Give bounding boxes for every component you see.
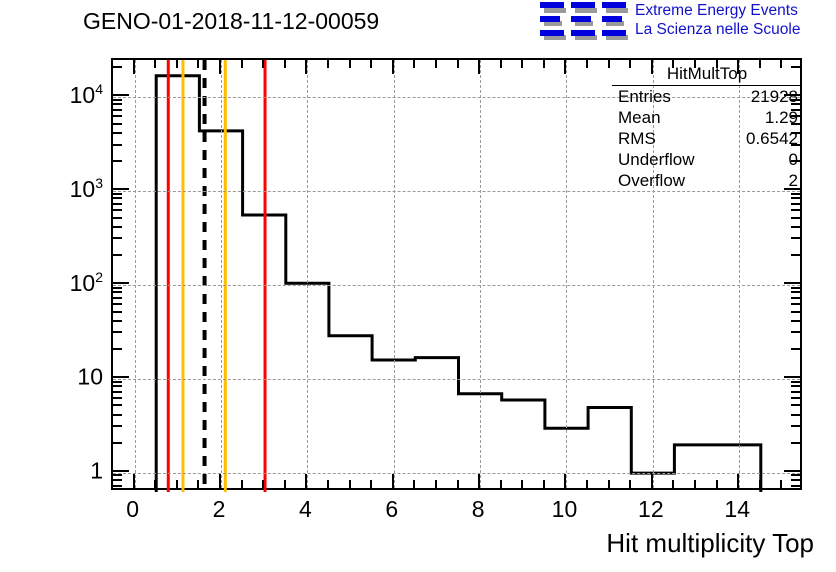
eee-logo: Extreme Energy Events La Scienza nelle S… — [540, 1, 832, 41]
x-axis-tick-top — [327, 60, 329, 68]
y-axis-tick — [113, 109, 122, 111]
stats-value: 21928 — [751, 86, 798, 107]
y-axis-tick-right — [791, 474, 800, 476]
x-axis-tick — [241, 480, 243, 488]
eee-letter-1 — [540, 2, 564, 36]
x-axis-tick — [370, 480, 372, 488]
y-axis-tick — [113, 404, 122, 406]
y-axis-tick-right — [791, 404, 800, 406]
y-axis-tick — [113, 474, 122, 476]
x-axis-tick — [500, 480, 502, 488]
y-axis-tick-right — [791, 217, 800, 219]
y-axis-tick-right — [791, 209, 800, 211]
x-axis-label: 12 — [638, 496, 664, 523]
stats-value: 2 — [789, 170, 798, 191]
x-axis-label: 4 — [299, 496, 312, 523]
y-axis-tick — [113, 381, 122, 383]
y-axis-label: 102 — [70, 269, 103, 297]
y-axis-tick-right — [791, 197, 800, 199]
y-axis-tick — [113, 254, 122, 256]
y-axis-tick-right — [791, 303, 800, 305]
y-axis-tick-right — [791, 414, 800, 416]
y-axis-tick — [113, 470, 129, 472]
x-axis-tick — [543, 480, 545, 488]
y-axis-tick — [113, 348, 122, 350]
stats-value: 0.6542 — [746, 128, 798, 149]
x-axis-tick — [413, 480, 415, 488]
y-axis-tick — [113, 320, 122, 322]
x-axis-tick-top — [457, 60, 459, 68]
x-axis-tick — [672, 480, 674, 488]
gridline-vertical — [566, 60, 567, 488]
y-axis-tick — [113, 144, 122, 146]
x-axis-tick — [457, 480, 459, 488]
x-axis-tick-top — [305, 60, 307, 74]
stats-value: 0 — [789, 149, 798, 170]
eee-logo-mark — [540, 2, 626, 36]
y-axis-tick-right — [784, 376, 800, 378]
gridline-horizontal — [113, 473, 800, 474]
x-axis-tick — [392, 474, 394, 488]
gridline-vertical — [221, 60, 222, 488]
x-axis-tick-top — [478, 60, 480, 74]
y-axis-tick-right — [791, 237, 800, 239]
y-axis-tick — [113, 385, 122, 387]
eee-logo-text: Extreme Energy Events La Scienza nelle S… — [635, 1, 835, 39]
y-axis-tick — [113, 376, 129, 378]
y-axis-tick — [113, 397, 122, 399]
stats-row: Entries21928 — [612, 86, 802, 107]
x-axis-tick-top — [370, 60, 372, 68]
y-axis-tick — [113, 115, 122, 117]
x-axis-tick — [608, 480, 610, 488]
stats-row: Mean1.29 — [612, 107, 802, 128]
y-axis-tick — [113, 297, 122, 299]
y-axis-tick-right — [791, 254, 800, 256]
stats-box: HitMultTop Entries21928Mean1.29RMS0.6542… — [612, 64, 802, 191]
eee-tagline-1: Extreme Energy Events — [635, 1, 835, 20]
x-axis-tick — [564, 474, 566, 488]
x-axis-title: Hit multiplicity Top — [606, 528, 814, 559]
x-axis-label: 6 — [385, 496, 398, 523]
y-axis-tick-right — [791, 391, 800, 393]
page-title: GENO-01-2018-11-12-00059 — [83, 8, 379, 35]
x-axis-tick-top — [500, 60, 502, 68]
x-axis-tick — [586, 480, 588, 488]
y-axis-tick — [113, 425, 122, 427]
x-axis-tick — [284, 480, 286, 488]
x-axis-tick — [154, 480, 156, 488]
gridline-horizontal — [113, 379, 800, 380]
y-axis-tick — [113, 282, 129, 284]
x-axis-tick-top — [197, 60, 199, 68]
x-axis-tick-top — [413, 60, 415, 68]
x-axis-tick-top — [564, 60, 566, 74]
x-axis-tick-top — [176, 60, 178, 68]
x-axis-tick — [435, 480, 437, 488]
x-axis-tick — [716, 480, 718, 488]
x-axis-tick-top — [262, 60, 264, 68]
x-axis-tick — [651, 474, 653, 488]
y-axis-label: 10 — [77, 364, 103, 391]
y-axis-tick — [113, 311, 122, 313]
gridline-vertical — [480, 60, 481, 488]
y-axis-tick-right — [791, 226, 800, 228]
y-axis-tick-right — [791, 485, 800, 487]
x-axis-tick — [478, 474, 480, 488]
y-axis-tick — [113, 391, 122, 393]
y-axis-label: 104 — [70, 82, 103, 110]
gridline-horizontal — [113, 285, 800, 286]
x-axis-tick — [629, 480, 631, 488]
x-axis-tick — [305, 474, 307, 488]
y-axis-tick — [113, 132, 122, 134]
y-axis-tick — [113, 331, 122, 333]
y-axis-tick — [113, 209, 122, 211]
x-axis-tick-top — [284, 60, 286, 68]
eee-letter-2 — [571, 2, 595, 36]
y-axis-tick-right — [791, 287, 800, 289]
y-axis-tick — [113, 287, 122, 289]
x-axis-tick — [349, 480, 351, 488]
y-axis-tick — [113, 99, 122, 101]
y-axis-tick-right — [791, 425, 800, 427]
x-axis-tick-top — [349, 60, 351, 68]
y-axis-tick — [113, 94, 129, 96]
x-axis-tick — [780, 480, 782, 488]
x-axis-tick-top — [133, 60, 135, 74]
y-axis-tick-right — [791, 348, 800, 350]
eee-letter-3 — [602, 2, 626, 36]
x-axis-tick — [327, 480, 329, 488]
y-axis-tick — [113, 479, 122, 481]
x-axis-label: 14 — [724, 496, 750, 523]
x-axis-tick — [694, 480, 696, 488]
y-axis-tick — [113, 193, 122, 195]
x-axis-tick-top — [521, 60, 523, 68]
y-axis-tick-right — [791, 320, 800, 322]
y-axis-label: 1 — [90, 458, 103, 485]
y-axis-tick-right — [784, 282, 800, 284]
x-axis-tick-top — [543, 60, 545, 68]
x-axis-tick-top — [392, 60, 394, 74]
y-axis-tick-right — [791, 331, 800, 333]
y-axis-tick-right — [791, 442, 800, 444]
y-axis-tick-right — [791, 291, 800, 293]
x-axis-tick-top — [219, 60, 221, 74]
stats-key: Overflow — [618, 170, 685, 191]
x-axis-tick — [176, 480, 178, 488]
x-axis-tick — [219, 474, 221, 488]
stats-value: 1.29 — [765, 107, 798, 128]
y-axis-tick-right — [791, 381, 800, 383]
y-axis-tick — [113, 237, 122, 239]
y-axis-tick — [113, 160, 122, 162]
x-axis-tick-top — [435, 60, 437, 68]
x-axis-tick — [737, 474, 739, 488]
gridline-vertical — [307, 60, 308, 488]
gridline-horizontal — [113, 191, 800, 192]
y-axis-tick — [113, 485, 122, 487]
y-axis-tick-right — [791, 397, 800, 399]
stats-key: Mean — [618, 107, 661, 128]
gridline-vertical — [135, 60, 136, 488]
x-axis-tick — [262, 480, 264, 488]
y-axis-tick-right — [791, 479, 800, 481]
y-axis-tick-right — [791, 203, 800, 205]
stats-rows: Entries21928Mean1.29RMS0.6542Underflow0O… — [612, 86, 802, 191]
x-axis-tick — [133, 474, 135, 488]
y-axis-tick — [113, 442, 122, 444]
x-axis-label: 2 — [213, 496, 226, 523]
stats-key: RMS — [618, 128, 656, 149]
stats-title: HitMultTop — [612, 64, 802, 86]
y-axis-tick-right — [791, 385, 800, 387]
y-axis-tick — [113, 291, 122, 293]
y-axis-tick — [113, 66, 122, 68]
y-axis-tick-right — [791, 297, 800, 299]
y-axis-tick-right — [784, 470, 800, 472]
y-axis-tick — [113, 226, 122, 228]
y-axis-tick-right — [791, 193, 800, 195]
x-axis-tick-top — [586, 60, 588, 68]
x-axis-tick-top — [608, 60, 610, 68]
stats-row: Overflow2 — [612, 170, 802, 191]
stats-row: RMS0.6542 — [612, 128, 802, 149]
y-axis-tick — [113, 103, 122, 105]
eee-tagline-2: La Scienza nelle Scuole — [635, 20, 835, 39]
x-axis-label: 10 — [552, 496, 578, 523]
x-axis-tick — [521, 480, 523, 488]
x-axis-label: 8 — [472, 496, 485, 523]
y-axis-tick — [113, 217, 122, 219]
x-axis-tick — [197, 480, 199, 488]
y-axis-tick — [113, 197, 122, 199]
gridline-vertical — [394, 60, 395, 488]
stats-key: Entries — [618, 86, 671, 107]
stats-row: Underflow0 — [612, 149, 802, 170]
x-axis-tick-top — [154, 60, 156, 68]
x-axis-label: 0 — [126, 496, 139, 523]
y-axis-tick — [113, 123, 122, 125]
stats-key: Underflow — [618, 149, 695, 170]
y-axis-tick — [113, 414, 122, 416]
y-axis-label: 103 — [70, 175, 103, 203]
x-axis-tick — [759, 480, 761, 488]
y-axis-tick-right — [791, 311, 800, 313]
y-axis-tick — [113, 303, 122, 305]
y-axis-tick — [113, 203, 122, 205]
y-axis-tick — [113, 188, 129, 190]
x-axis-tick-top — [241, 60, 243, 68]
